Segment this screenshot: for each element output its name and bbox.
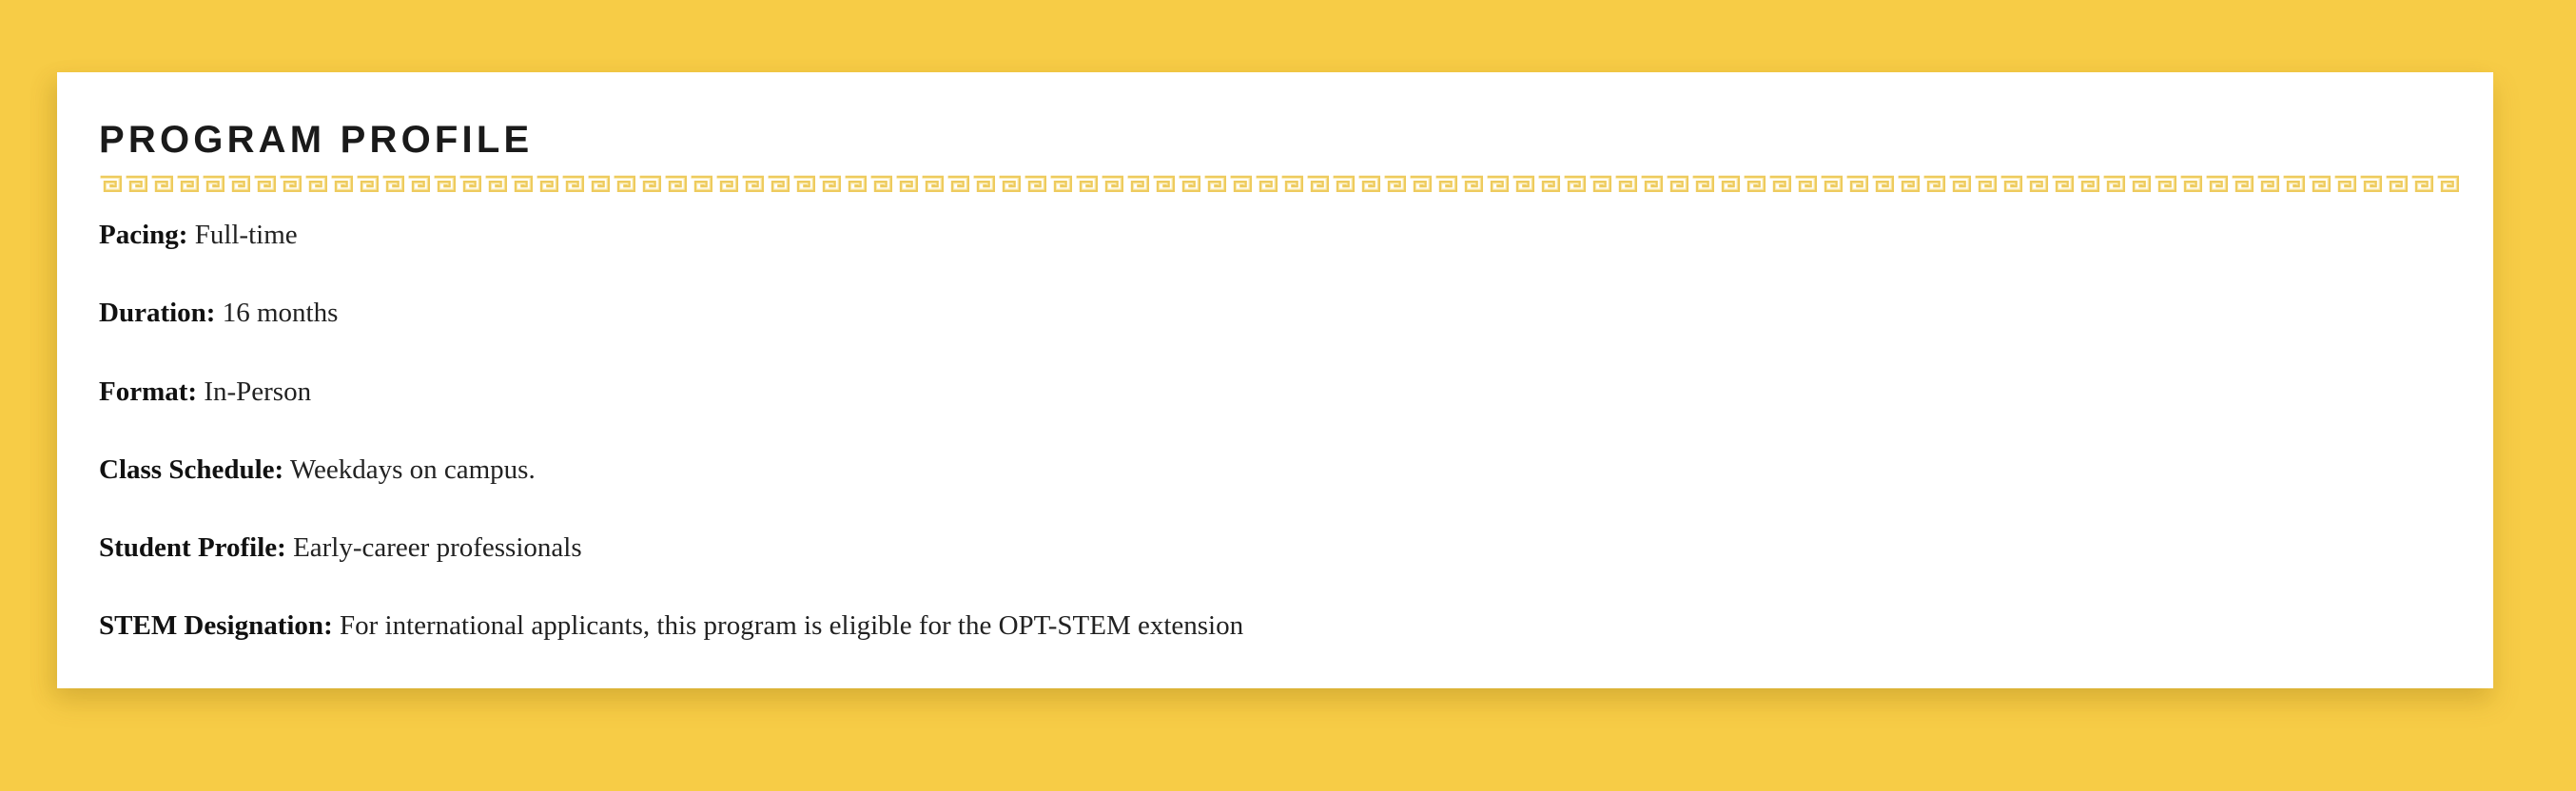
detail-row: Duration: 16 months — [99, 296, 2455, 330]
page-title: PROGRAM PROFILE — [99, 120, 2455, 160]
detail-label-format: Format: — [99, 376, 197, 407]
detail-value-format: In-Person — [204, 376, 311, 407]
detail-label-pacing: Pacing: — [99, 220, 187, 250]
detail-value-stem-designation: For international applicants, this progr… — [340, 610, 1243, 641]
detail-row: Format: In-Person — [99, 375, 2455, 409]
detail-label-class-schedule: Class Schedule: — [99, 454, 283, 485]
detail-label-stem-designation: STEM Designation: — [99, 610, 333, 641]
program-profile-card: PROGRAM PROFILE — [57, 72, 2493, 688]
detail-value-pacing: Full-time — [195, 220, 298, 250]
detail-row: Student Profile: Early-career profession… — [99, 531, 2455, 565]
detail-row: STEM Designation: For international appl… — [99, 608, 2455, 643]
detail-label-student-profile: Student Profile: — [99, 532, 286, 563]
detail-row: Pacing: Full-time — [99, 218, 2455, 252]
detail-row: Class Schedule: Weekdays on campus. — [99, 453, 2455, 487]
detail-label-duration: Duration: — [99, 298, 215, 328]
detail-value-class-schedule: Weekdays on campus. — [290, 454, 536, 485]
detail-value-duration: 16 months — [223, 298, 339, 328]
greek-meander-divider-icon — [99, 175, 2460, 193]
card-content: PROGRAM PROFILE — [99, 120, 2455, 644]
detail-value-student-profile: Early-career professionals — [293, 532, 582, 563]
program-details-list: Pacing: Full-time Duration: 16 months Fo… — [99, 218, 2455, 644]
page-background: PROGRAM PROFILE — [0, 0, 2576, 791]
